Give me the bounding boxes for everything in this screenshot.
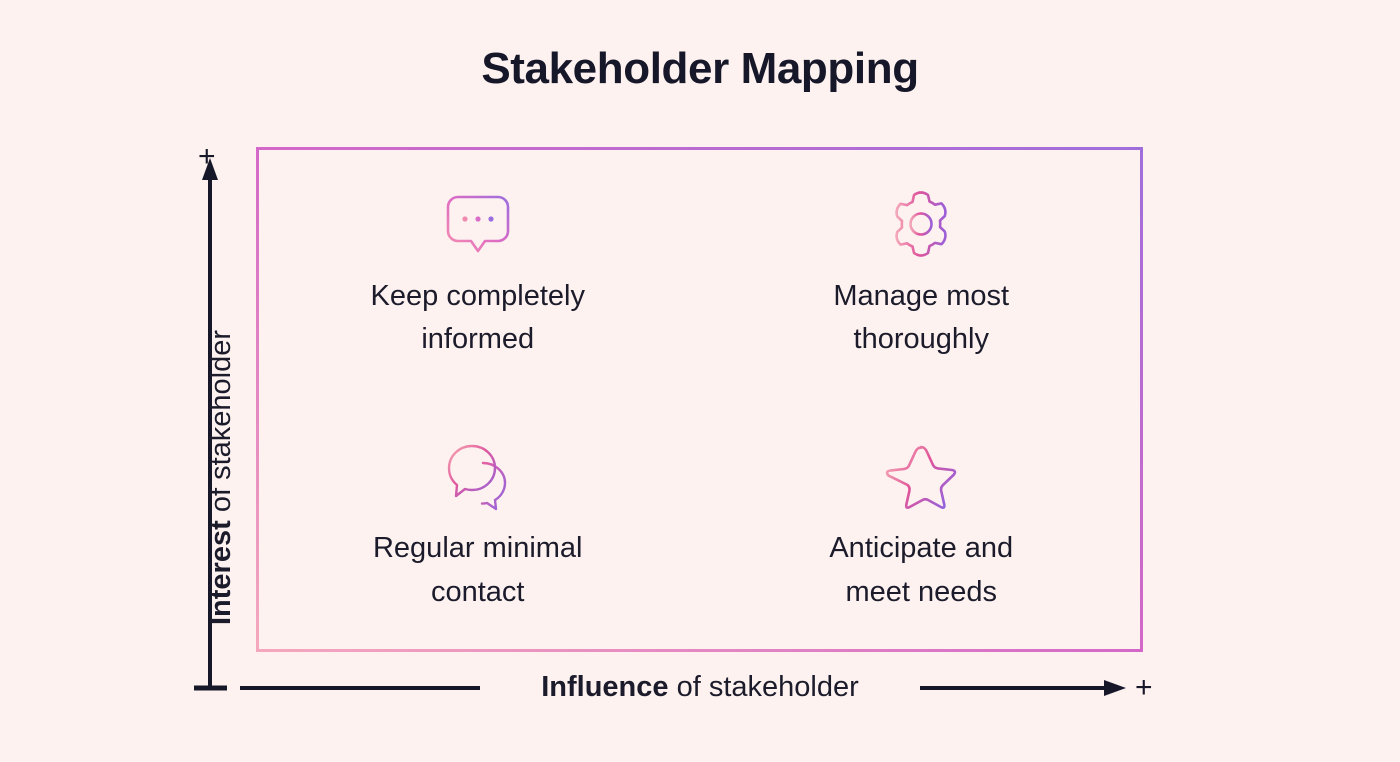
page-title: Stakeholder Mapping bbox=[0, 44, 1400, 94]
x-axis-plus-marker: + bbox=[1135, 673, 1153, 703]
quadrant-label: Manage most thoroughly bbox=[833, 275, 1009, 362]
y-axis-label-rest: of stakeholder bbox=[205, 330, 237, 520]
quadrant-top-right[interactable]: Manage most thoroughly bbox=[700, 147, 1144, 400]
y-axis-plus-marker: + bbox=[198, 142, 216, 172]
y-axis-label-strong: Interest bbox=[205, 520, 237, 625]
y-axis-label: Interest of stakeholder bbox=[205, 330, 238, 625]
speech-bubble-dots-icon bbox=[439, 185, 517, 263]
quadrant-bottom-right[interactable]: Anticipate and meet needs bbox=[700, 400, 1144, 653]
x-axis-label: Influence of stakeholder bbox=[480, 671, 920, 704]
x-axis-label-rest: of stakeholder bbox=[669, 671, 859, 703]
quadrant-matrix: Keep completely informed Manage most bbox=[256, 147, 1143, 652]
quadrant-label: Anticipate and meet needs bbox=[829, 527, 1013, 614]
double-speech-bubble-icon bbox=[439, 437, 517, 515]
x-axis-label-strong: Influence bbox=[541, 671, 668, 703]
quadrant-label: Regular minimal contact bbox=[373, 527, 583, 614]
quadrant-bottom-left[interactable]: Regular minimal contact bbox=[256, 400, 700, 653]
stakeholder-mapping-diagram: Stakeholder Mapping + + Interest of stak… bbox=[0, 0, 1400, 762]
star-icon bbox=[882, 437, 960, 515]
quadrant-top-left[interactable]: Keep completely informed bbox=[256, 147, 700, 400]
gear-icon bbox=[882, 185, 960, 263]
quadrant-label: Keep completely informed bbox=[371, 275, 585, 362]
